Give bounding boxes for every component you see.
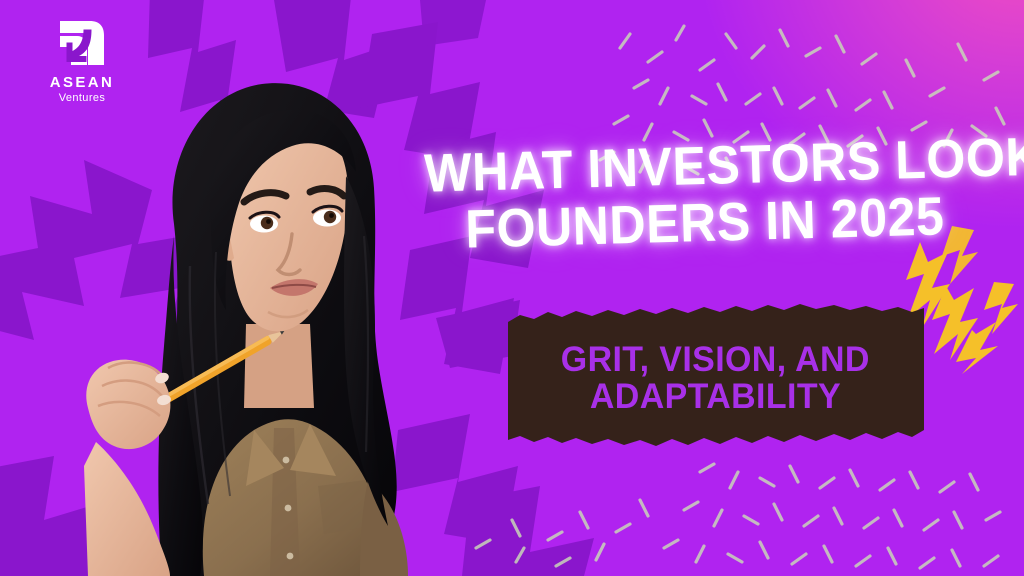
subtitle-line-1: GRIT, VISION, AND — [560, 341, 869, 378]
subtitle-text: GRIT, VISION, AND ADAPTABILITY — [504, 302, 926, 450]
brand-name: ASEAN — [50, 75, 115, 90]
portrait-image — [78, 56, 448, 576]
subtitle-banner: GRIT, VISION, AND ADAPTABILITY — [504, 302, 926, 450]
subtitle-line-2: ADAPTABILITY — [589, 378, 840, 415]
promo-banner: WHAT INVESTORS LOOK FOR IN FOUNDERS IN 2… — [0, 0, 1024, 576]
brand-tagline: Ventures — [59, 93, 106, 104]
headline: WHAT INVESTORS LOOK FOR IN FOUNDERS IN 2… — [403, 132, 1006, 260]
arrow-up-left-leaf-icon — [57, 18, 107, 68]
brand-logo[interactable]: ASEAN Ventures — [22, 18, 142, 104]
